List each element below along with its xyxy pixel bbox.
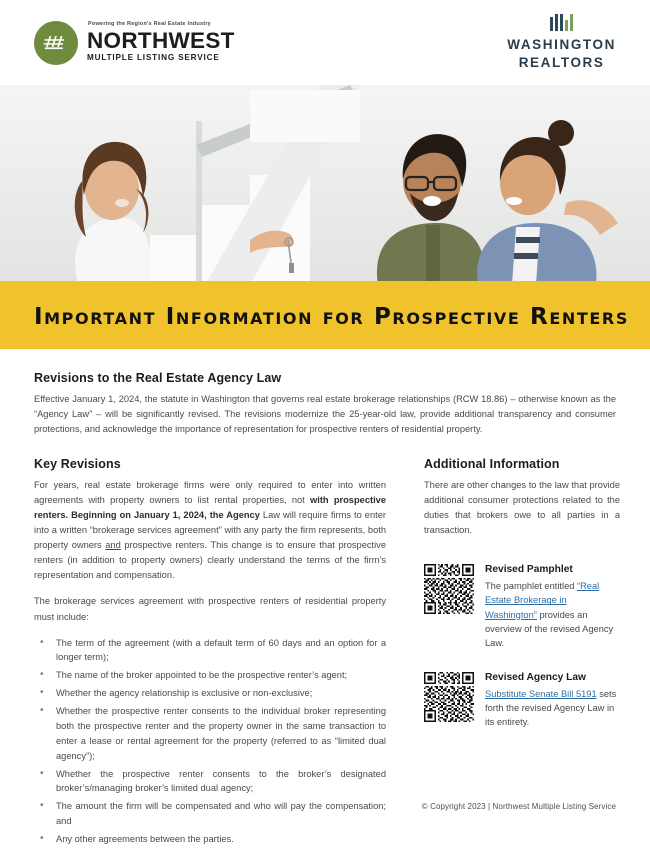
resource-description: Substitute Senate Bill 5191 sets forth t…	[485, 687, 620, 729]
key-revisions-paragraph-1: For years, real estate brokerage firms w…	[34, 478, 386, 583]
additional-information-body: There are other changes to the law that …	[424, 478, 620, 538]
content-area: Revisions to the Real Estate Agency Law …	[0, 349, 650, 850]
northwest-mls-mark-icon	[34, 21, 78, 65]
hero-photo	[0, 85, 650, 285]
list-item: The name of the broker appointed to be t…	[34, 668, 386, 683]
qr-code-revised-agency-law-icon[interactable]	[424, 672, 474, 722]
key-revisions-column: Key Revisions For years, real estate bro…	[34, 457, 386, 850]
list-item: Any other agreements between the parties…	[34, 832, 386, 847]
list-item: The term of the agreement (with a defaul…	[34, 636, 386, 666]
resource-revised-pamphlet: Revised Pamphlet The pamphlet entitled “…	[424, 564, 620, 650]
resource-text-before: The pamphlet entitled	[485, 581, 577, 591]
key-revisions-paragraph-2: The brokerage services agreement with pr…	[34, 594, 386, 624]
resource-title: Revised Agency Law	[485, 672, 620, 683]
footer: © Copyright 2023 | Northwest Multiple Li…	[0, 796, 650, 814]
resource-description: The pamphlet entitled “Real Estate Broke…	[485, 579, 620, 650]
list-item: Whether the prospective renter consents …	[34, 704, 386, 764]
additional-information-heading: Additional Information	[424, 457, 620, 471]
page-header: Powering the Region's Real Estate Indust…	[0, 0, 650, 85]
two-column-layout: Key Revisions For years, real estate bro…	[34, 457, 616, 850]
washington-realtors-logo: WASHINGTON REALTORS	[507, 14, 616, 71]
requirements-list: The term of the agreement (with a defaul…	[34, 636, 386, 847]
intro-heading: Revisions to the Real Estate Agency Law	[34, 371, 616, 385]
page-title: Important Information for Prospective Re…	[34, 304, 629, 330]
qr-code-revised-pamphlet-icon[interactable]	[424, 564, 474, 614]
kr-p1-underline: and	[105, 540, 121, 550]
additional-information-column: Additional Information There are other c…	[424, 457, 620, 850]
northwest-mls-subtitle: MULTIPLE LISTING SERVICE	[87, 54, 235, 62]
washington-realtors-line1: WASHINGTON	[507, 36, 616, 53]
title-banner: Important Information for Prospective Re…	[0, 285, 650, 349]
list-item: Whether the agency relationship is exclu…	[34, 686, 386, 701]
resource-revised-agency-law: Revised Agency Law Substitute Senate Bil…	[424, 672, 620, 729]
intro-paragraph: Effective January 1, 2024, the statute i…	[34, 392, 616, 437]
northwest-mls-name: NORTHWEST	[87, 30, 235, 53]
washington-realtors-line2: REALTORS	[519, 54, 605, 71]
resource-title: Revised Pamphlet	[485, 564, 620, 575]
key-revisions-heading: Key Revisions	[34, 457, 386, 471]
list-item: Whether the prospective renter consents …	[34, 767, 386, 797]
flyer-page: Powering the Region's Real Estate Indust…	[0, 0, 650, 841]
northwest-mls-logo: Powering the Region's Real Estate Indust…	[34, 21, 235, 65]
resource-link[interactable]: Substitute Senate Bill 5191	[485, 689, 597, 699]
washington-realtors-mark-icon	[550, 14, 574, 31]
copyright-text: © Copyright 2023 | Northwest Multiple Li…	[422, 802, 616, 811]
